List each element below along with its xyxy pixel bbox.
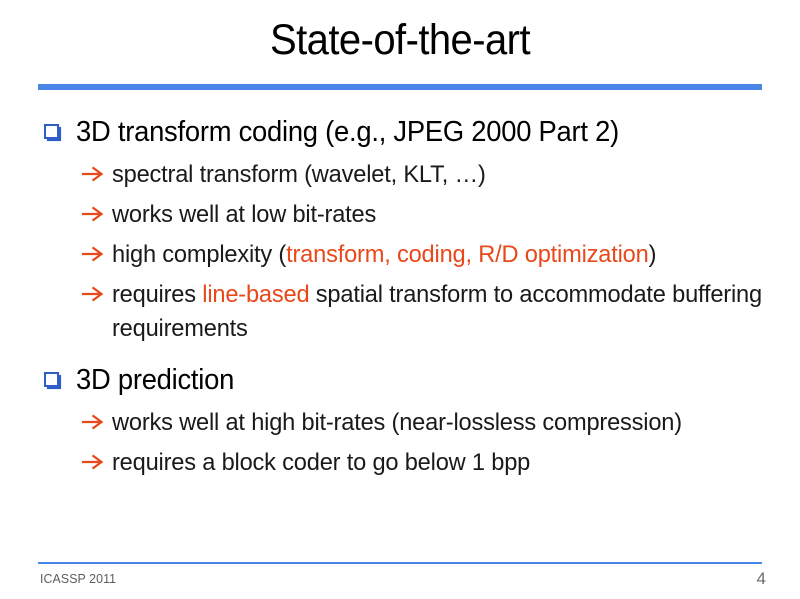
text-run: requires a block coder to go below 1 bpp [112, 449, 530, 476]
highlighted-text-run: line-based [202, 281, 309, 308]
bullet-level2: spectral transform (wavelet, KLT, …) [0, 158, 800, 192]
square-bullet-icon [44, 372, 59, 387]
arrow-right-icon [80, 161, 106, 187]
bullet-level2-label: requires line-based spatial transform to… [112, 278, 776, 346]
bullet-level2-label: works well at low bit-rates [112, 198, 776, 232]
bullet-level2-label: high complexity (transform, coding, R/D … [112, 238, 776, 272]
bullet-level2-label: works well at high bit-rates (near-lossl… [112, 406, 776, 440]
bullet-level1-label: 3D prediction [76, 360, 771, 400]
text-run: high complexity ( [112, 241, 286, 268]
arrow-right-icon [80, 449, 106, 475]
title-divider-rule [38, 84, 762, 90]
slide-body: 3D transform coding (e.g., JPEG 2000 Par… [0, 112, 800, 486]
text-run: works well at low bit-rates [112, 201, 376, 228]
slide-page-number: 4 [757, 568, 766, 590]
text-run: requires [112, 281, 202, 308]
footer-conference-label: ICASSP 2011 [40, 570, 116, 588]
arrow-right-icon [80, 241, 106, 267]
square-bullet-icon [44, 124, 59, 139]
bullet-level2: works well at high bit-rates (near-lossl… [0, 406, 800, 440]
title-block: State-of-the-art [0, 14, 800, 66]
text-run: spectral transform (wavelet, KLT, …) [112, 161, 486, 188]
bullet-level2: works well at low bit-rates [0, 198, 800, 232]
bullet-level1-label: 3D transform coding (e.g., JPEG 2000 Par… [76, 112, 771, 152]
page-title: State-of-the-art [28, 14, 772, 66]
group-spacer [0, 352, 800, 360]
bullet-level2: requires a block coder to go below 1 bpp [0, 446, 800, 480]
highlighted-text-run: transform, coding, R/D optimization [286, 241, 648, 268]
bullet-level2-label: requires a block coder to go below 1 bpp [112, 446, 776, 480]
arrow-right-icon [80, 409, 106, 435]
arrow-right-icon [80, 201, 106, 227]
slide: State-of-the-art 3D transform coding (e.… [0, 0, 800, 599]
bullet-level1: 3D transform coding (e.g., JPEG 2000 Par… [0, 112, 800, 152]
bullet-level2: requires line-based spatial transform to… [0, 278, 800, 346]
text-run: works well at high bit-rates (near-lossl… [112, 409, 682, 436]
arrow-right-icon [80, 281, 106, 307]
bullet-level2-label: spectral transform (wavelet, KLT, …) [112, 158, 776, 192]
footer-divider-rule [38, 562, 762, 564]
bullet-level2: high complexity (transform, coding, R/D … [0, 238, 800, 272]
text-run: ) [649, 241, 657, 268]
bullet-level1: 3D prediction [0, 360, 800, 400]
